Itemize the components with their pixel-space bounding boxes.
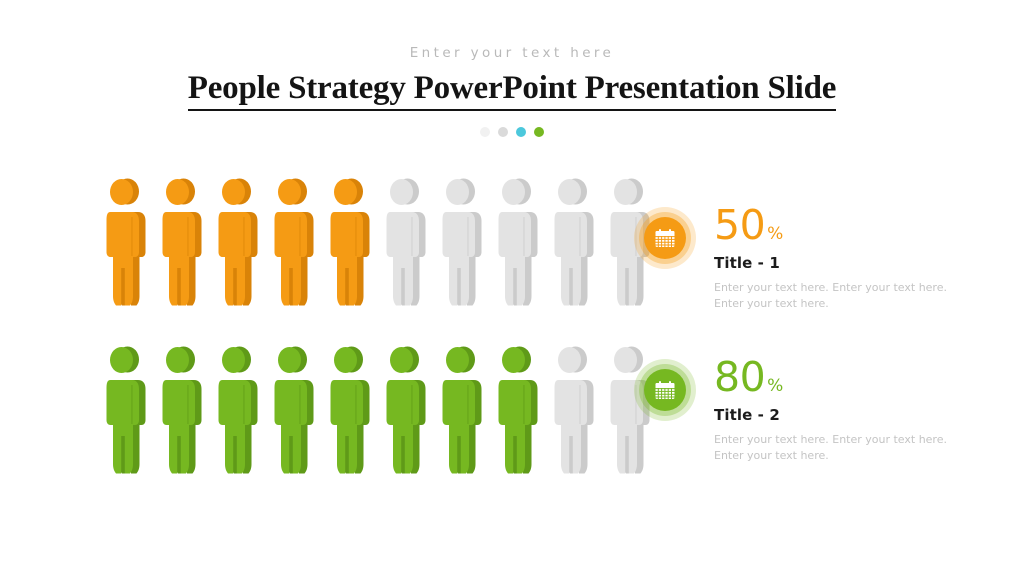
stat-panel-2[interactable]: 80 % Title - 2 Enter your text here. Ent… [634, 355, 947, 464]
pagination-dots[interactable] [0, 127, 1024, 137]
pictogram-row-1 [100, 176, 660, 308]
person-icon-filled [324, 176, 374, 308]
stat-title-2: Title - 2 [714, 406, 947, 425]
calendar-icon [655, 229, 675, 248]
stat-description-2: Enter your text here. Enter your text he… [714, 432, 947, 464]
stat-badge-1[interactable] [634, 207, 696, 269]
person-icon-filled [100, 176, 150, 308]
person-icon-empty [380, 176, 430, 308]
badge-circle-1[interactable] [644, 217, 686, 259]
stat-text-1: 50 % Title - 1 Enter your text here. Ent… [714, 203, 947, 312]
stat-text-2: 80 % Title - 2 Enter your text here. Ent… [714, 355, 947, 464]
stat-unit-2: % [767, 378, 783, 395]
pictogram-row-2 [100, 344, 660, 476]
person-icon-filled [324, 344, 374, 476]
person-icon-empty [436, 176, 486, 308]
person-icon-filled [156, 344, 206, 476]
slide-canvas: Enter your text here People Strategy Pow… [0, 0, 1024, 576]
person-icon-filled [436, 344, 486, 476]
stat-description-1: Enter your text here. Enter your text he… [714, 280, 947, 312]
dot-2[interactable] [498, 127, 508, 137]
stat-description-1-line-1: Enter your text here. Enter your text he… [714, 280, 947, 296]
person-icon-filled [212, 176, 262, 308]
header-eyebrow: Enter your text here [0, 44, 1024, 62]
person-icon-empty [548, 176, 598, 308]
person-icon-filled [156, 176, 206, 308]
person-icon-filled [212, 344, 262, 476]
stat-value-1: 50 [714, 203, 765, 247]
stat-description-2-line-2: Enter your text here. [714, 448, 947, 464]
slide-header: Enter your text here People Strategy Pow… [0, 44, 1024, 137]
badge-circle-2[interactable] [644, 369, 686, 411]
dot-3[interactable] [516, 127, 526, 137]
person-icon-filled [268, 344, 318, 476]
stat-unit-1: % [767, 226, 783, 243]
stat-panel-1[interactable]: 50 % Title - 1 Enter your text here. Ent… [634, 203, 947, 312]
person-icon-filled [492, 344, 542, 476]
person-icon-filled [380, 344, 430, 476]
person-icon-filled [100, 344, 150, 476]
dot-1[interactable] [480, 127, 490, 137]
stat-description-2-line-1: Enter your text here. Enter your text he… [714, 432, 947, 448]
calendar-icon [655, 381, 675, 400]
page-title: People Strategy PowerPoint Presentation … [188, 68, 836, 111]
stat-value-line-2: 80 % [714, 355, 947, 399]
stat-value-line-1: 50 % [714, 203, 947, 247]
stat-value-2: 80 [714, 355, 765, 399]
person-icon-filled [268, 176, 318, 308]
person-icon-empty [492, 176, 542, 308]
stat-badge-2[interactable] [634, 359, 696, 421]
dot-4[interactable] [534, 127, 544, 137]
person-icon-empty [548, 344, 598, 476]
stat-description-1-line-2: Enter your text here. [714, 296, 947, 312]
stat-title-1: Title - 1 [714, 254, 947, 273]
